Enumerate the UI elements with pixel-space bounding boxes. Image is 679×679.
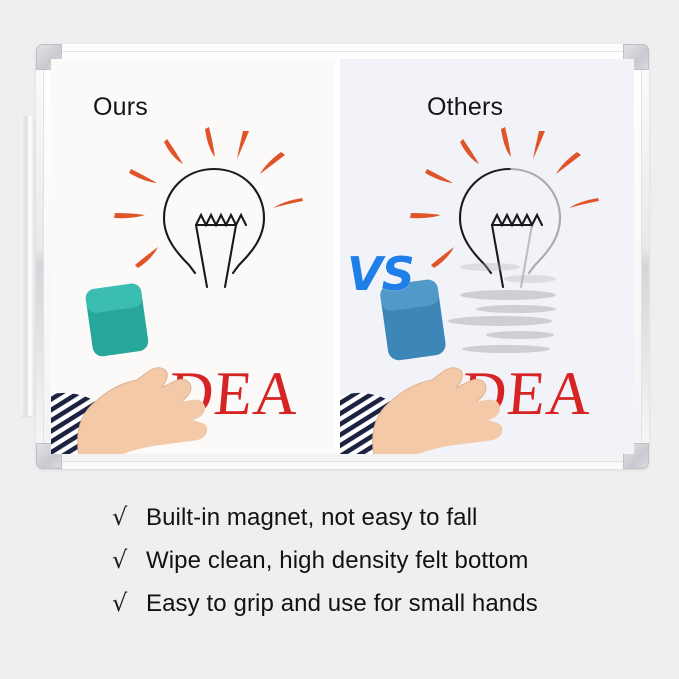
check-icon: √ — [112, 503, 146, 531]
hand-others — [373, 368, 503, 454]
feature-text: Wipe clean, high density felt bottom — [146, 547, 528, 575]
hand-ours — [78, 368, 208, 454]
feature-list: √ Built-in magnet, not easy to fall √ Wi… — [112, 503, 612, 632]
comparison-panel-ours: Ours — [51, 59, 335, 454]
feature-text: Easy to grip and use for small hands — [146, 590, 538, 618]
product-comparison-page: Ours — [0, 0, 679, 679]
board-writing-surface: Ours — [51, 59, 634, 454]
feature-item: √ Built-in magnet, not easy to fall — [112, 503, 612, 546]
whiteboard-figure: Ours — [36, 44, 649, 469]
bulb-rays-ours — [114, 127, 303, 268]
vs-badge: VS — [347, 247, 414, 301]
check-icon: √ — [112, 546, 146, 574]
feature-item: √ Easy to grip and use for small hands — [112, 589, 612, 632]
check-icon: √ — [112, 589, 146, 617]
feature-item: √ Wipe clean, high density felt bottom — [112, 546, 612, 589]
pen-tray-rail — [20, 116, 34, 416]
hand-with-eraser-ours — [51, 270, 288, 454]
teal-eraser-block — [85, 282, 150, 357]
feature-text: Built-in magnet, not easy to fall — [146, 504, 477, 532]
